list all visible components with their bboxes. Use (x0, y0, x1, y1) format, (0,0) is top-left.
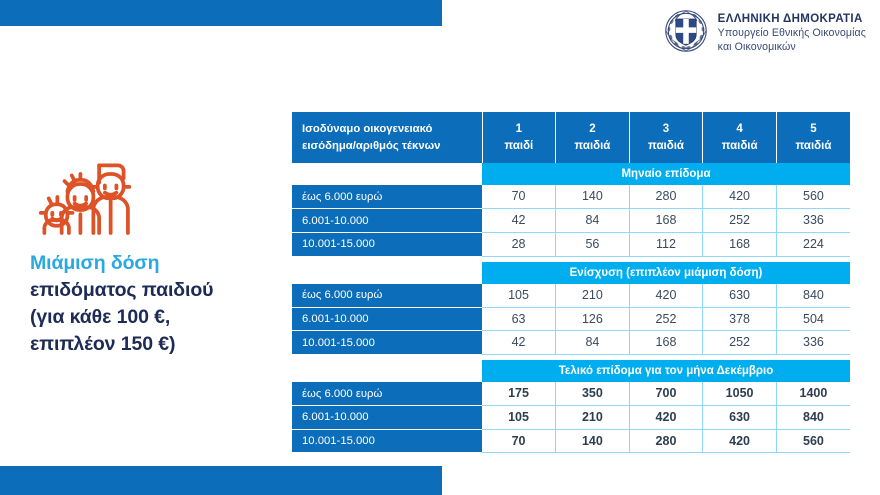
row-value-cell: 140 (556, 429, 630, 453)
row-value-cell: 112 (629, 232, 703, 256)
row-value-cell: 84 (556, 209, 630, 233)
caption-line-3: (για κάθε 100 €, (30, 306, 170, 328)
row-income-label: 10.001-15.000 (292, 232, 482, 256)
row-value-cell: 420 (703, 429, 777, 453)
section-header-row: Μηναίο επίδομα (292, 163, 850, 185)
row-income-label: 10.001-15.000 (292, 429, 482, 453)
section-header-row: Τελικό επίδομα για τον μήνα Δεκέμβριο (292, 360, 850, 382)
row-value-cell: 1050 (703, 382, 777, 405)
caption-highlight: Μιάμιση δόση (30, 252, 159, 274)
table-header-row: Ισοδύναμο οικογενειακό εισόδημα/αριθμός … (292, 112, 850, 163)
header-col-3children: 3 παιδιά (629, 112, 703, 163)
row-value-cell: 280 (629, 429, 703, 453)
row-value-cell: 70 (482, 429, 556, 453)
section-title: Μηναίο επίδομα (482, 163, 850, 185)
republic-label: ΕΛΛΗΝΙΚΗ ΔΗΜΟΚΡΑΤΙΑ (718, 12, 866, 27)
row-value-cell: 175 (482, 382, 556, 405)
row-income-label: 6.001-10.000 (292, 405, 482, 429)
row-value-cell: 252 (629, 307, 703, 331)
row-income-label: έως 6.000 ευρώ (292, 185, 482, 208)
bottom-accent-bar (0, 466, 442, 495)
row-value-cell: 56 (556, 232, 630, 256)
section-header-blank-cell (292, 360, 482, 382)
row-value-cell: 336 (776, 209, 850, 233)
family-icon (30, 158, 138, 236)
row-value-cell: 126 (556, 307, 630, 331)
table-row: 6.001-10.000105210420630840 (292, 405, 850, 429)
row-value-cell: 560 (776, 185, 850, 208)
left-panel: Μιάμιση δόση επιδόματος παιδιού (για κάθ… (30, 158, 280, 358)
row-value-cell: 560 (776, 429, 850, 453)
caption-line-2: επιδόματος παιδιού (30, 279, 213, 301)
row-value-cell: 42 (482, 209, 556, 233)
page-title: Μιάμιση δόση επιδόματος παιδιού (για κάθ… (30, 250, 280, 358)
table-row: έως 6.000 ευρώ105210420630840 (292, 284, 850, 307)
row-value-cell: 63 (482, 307, 556, 331)
table-row: 10.001-15.00070140280420560 (292, 429, 850, 453)
row-value-cell: 140 (556, 185, 630, 208)
row-value-cell: 210 (556, 284, 630, 307)
header-col-4children-count: 4 (711, 121, 768, 138)
row-value-cell: 378 (703, 307, 777, 331)
row-value-cell: 210 (556, 405, 630, 429)
table-row: έως 6.000 ευρώ17535070010501400 (292, 382, 850, 405)
row-value-cell: 700 (629, 382, 703, 405)
row-value-cell: 840 (776, 284, 850, 307)
row-value-cell: 105 (482, 405, 556, 429)
header-col-1child: 1 παιδί (482, 112, 556, 163)
ministry-logo: ΕΛΛΗΝΙΚΗ ΔΗΜΟΚΡΑΤΙΑ Υπουργείο Εθνικής Οι… (663, 8, 866, 55)
header-col-2children-count: 2 (564, 121, 621, 138)
section-title: Ενίσχυση (επιπλέον μιάμιση δόση) (482, 262, 850, 284)
row-value-cell: 168 (703, 232, 777, 256)
row-value-cell: 168 (629, 331, 703, 355)
caption-line-4: επιπλέον 150 €) (30, 333, 175, 355)
header-col-1child-unit: παιδί (491, 138, 548, 155)
header-col-5children-count: 5 (785, 121, 842, 138)
header-income-line2: εισόδημα/αριθμός τέκνων (302, 140, 440, 152)
table-header: Ισοδύναμο οικογενειακό εισόδημα/αριθμός … (292, 112, 850, 163)
row-value-cell: 420 (703, 185, 777, 208)
header-col-5children-unit: παιδιά (785, 138, 842, 155)
row-value-cell: 168 (629, 209, 703, 233)
benefits-table: Ισοδύναμο οικογενειακό εισόδημα/αριθμός … (292, 112, 850, 453)
row-income-label: 10.001-15.000 (292, 331, 482, 355)
row-value-cell: 252 (703, 331, 777, 355)
row-value-cell: 420 (629, 405, 703, 429)
section-header-row: Ενίσχυση (επιπλέον μιάμιση δόση) (292, 262, 850, 284)
row-value-cell: 252 (703, 209, 777, 233)
header-income-label: Ισοδύναμο οικογενειακό εισόδημα/αριθμός … (292, 112, 482, 163)
header-income-line1: Ισοδύναμο οικογενειακό (302, 123, 432, 135)
table-row: 6.001-10.0004284168252336 (292, 209, 850, 233)
row-value-cell: 84 (556, 331, 630, 355)
header-col-3children-unit: παιδιά (638, 138, 695, 155)
header-col-4children: 4 παιδιά (703, 112, 777, 163)
row-value-cell: 224 (776, 232, 850, 256)
header-col-5children: 5 παιδιά (776, 112, 850, 163)
row-value-cell: 420 (629, 284, 703, 307)
ministry-label-line2: και Οικονομικών (718, 41, 866, 55)
row-value-cell: 840 (776, 405, 850, 429)
row-value-cell: 336 (776, 331, 850, 355)
benefits-table-container: Ισοδύναμο οικογενειακό εισόδημα/αριθμός … (292, 112, 850, 453)
row-income-label: 6.001-10.000 (292, 307, 482, 331)
table-row: 6.001-10.00063126252378504 (292, 307, 850, 331)
ministry-label-line1: Υπουργείο Εθνικής Οικονομίας (718, 27, 866, 41)
row-value-cell: 630 (703, 284, 777, 307)
table-row: 10.001-15.0004284168252336 (292, 331, 850, 355)
top-accent-bar (0, 0, 442, 26)
section-header-blank-cell (292, 163, 482, 185)
section-title: Τελικό επίδομα για τον μήνα Δεκέμβριο (482, 360, 850, 382)
header-col-4children-unit: παιδιά (711, 138, 768, 155)
header-col-3children-count: 3 (638, 121, 695, 138)
row-value-cell: 42 (482, 331, 556, 355)
row-value-cell: 350 (556, 382, 630, 405)
row-value-cell: 70 (482, 185, 556, 208)
row-income-label: έως 6.000 ευρώ (292, 382, 482, 405)
row-income-label: 6.001-10.000 (292, 209, 482, 233)
ministry-name: ΕΛΛΗΝΙΚΗ ΔΗΜΟΚΡΑΤΙΑ Υπουργείο Εθνικής Οι… (718, 8, 866, 55)
section-header-blank-cell (292, 262, 482, 284)
table-body: Μηναίο επίδομαέως 6.000 ευρώ701402804205… (292, 163, 850, 453)
row-value-cell: 1400 (776, 382, 850, 405)
table-row: 10.001-15.0002856112168224 (292, 232, 850, 256)
row-value-cell: 630 (703, 405, 777, 429)
header-col-2children-unit: παιδιά (564, 138, 621, 155)
row-value-cell: 504 (776, 307, 850, 331)
row-value-cell: 28 (482, 232, 556, 256)
greek-coat-of-arms-icon (663, 8, 709, 54)
header-col-2children: 2 παιδιά (556, 112, 630, 163)
row-value-cell: 280 (629, 185, 703, 208)
table-row: έως 6.000 ευρώ70140280420560 (292, 185, 850, 208)
row-value-cell: 105 (482, 284, 556, 307)
row-income-label: έως 6.000 ευρώ (292, 284, 482, 307)
header-col-1child-count: 1 (491, 121, 548, 138)
